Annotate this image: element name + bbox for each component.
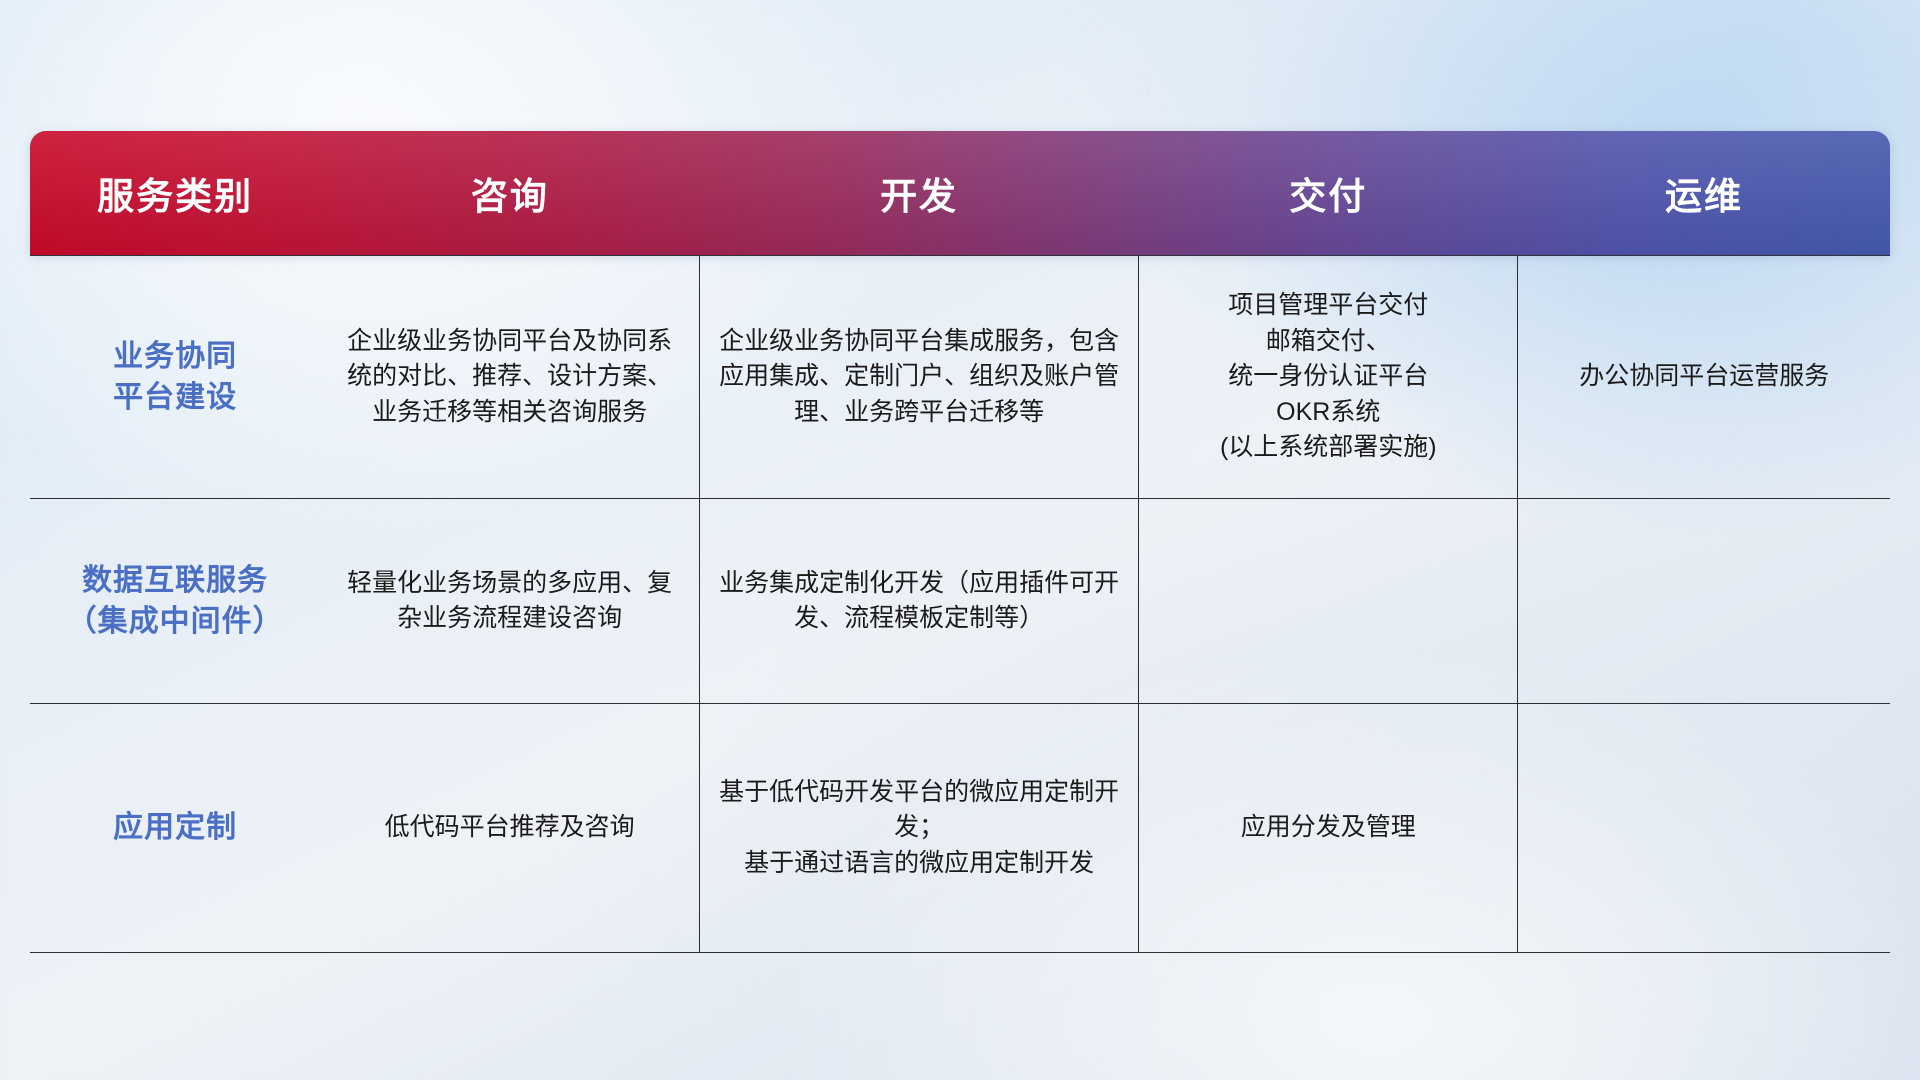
cell-category: 应用定制 — [30, 704, 320, 953]
table-row: 业务协同平台建设 企业级业务协同平台及协同系统的对比、推荐、设计方案、业务迁移等… — [30, 256, 1890, 499]
service-matrix-table-wrapper: 服务类别 咨询 开发 交付 运维 — [30, 131, 1890, 953]
cell-category: 业务协同平台建设 — [30, 256, 320, 499]
header-cell-operations: 运维 — [1518, 131, 1890, 256]
header-label-consulting: 咨询 — [471, 176, 549, 217]
cell-delivery — [1139, 499, 1518, 704]
cell-development: 企业级业务协同平台集成服务，包含应用集成、定制门户、组织及账户管理、业务跨平台迁… — [700, 256, 1139, 499]
cell-consulting: 企业级业务协同平台及协同系统的对比、推荐、设计方案、业务迁移等相关咨询服务 — [320, 256, 699, 499]
cell-category: 数据互联服务（集成中间件） — [30, 499, 320, 704]
header-row: 服务类别 咨询 开发 交付 运维 — [30, 131, 1890, 256]
header-label-delivery: 交付 — [1289, 176, 1367, 217]
header-cell-service-category: 服务类别 — [30, 131, 320, 256]
header-cell-development: 开发 — [700, 131, 1139, 256]
header-cell-consulting: 咨询 — [320, 131, 699, 256]
table-row: 应用定制 低代码平台推荐及咨询 基于低代码开发平台的微应用定制开发；基于通过语言… — [30, 704, 1890, 953]
cell-operations: 办公协同平台运营服务 — [1518, 256, 1890, 499]
table-row: 数据互联服务（集成中间件） 轻量化业务场景的多应用、复杂业务流程建设咨询 业务集… — [30, 499, 1890, 704]
cell-operations — [1518, 704, 1890, 953]
header-label-service-category: 服务类别 — [97, 176, 253, 217]
cell-development: 基于低代码开发平台的微应用定制开发；基于通过语言的微应用定制开发 — [700, 704, 1139, 953]
service-matrix-table: 服务类别 咨询 开发 交付 运维 — [30, 131, 1890, 953]
header-label-operations: 运维 — [1665, 176, 1743, 217]
header-label-development: 开发 — [880, 176, 958, 217]
cell-delivery: 项目管理平台交付邮箱交付、统一身份认证平台OKR系统(以上系统部署实施) — [1139, 256, 1518, 499]
cell-development: 业务集成定制化开发（应用插件可开发、流程模板定制等） — [700, 499, 1139, 704]
table-header: 服务类别 咨询 开发 交付 运维 — [30, 131, 1890, 256]
cell-delivery: 应用分发及管理 — [1139, 704, 1518, 953]
cell-consulting: 低代码平台推荐及咨询 — [320, 704, 699, 953]
slide-canvas: 服务类别 咨询 开发 交付 运维 — [0, 0, 1920, 1080]
header-cell-delivery: 交付 — [1139, 131, 1518, 256]
cell-operations — [1518, 499, 1890, 704]
table-body: 业务协同平台建设 企业级业务协同平台及协同系统的对比、推荐、设计方案、业务迁移等… — [30, 256, 1890, 953]
cell-consulting: 轻量化业务场景的多应用、复杂业务流程建设咨询 — [320, 499, 699, 704]
